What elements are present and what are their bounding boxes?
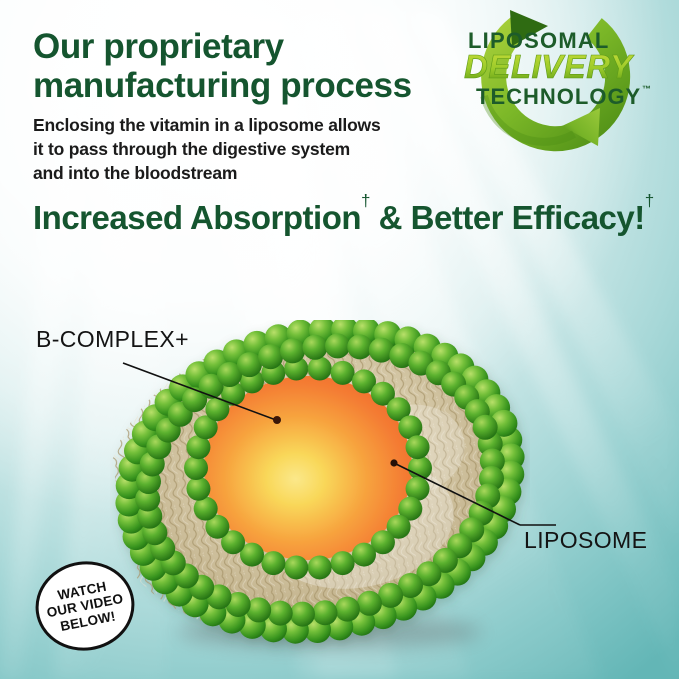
- phospholipid-head-bead: [335, 597, 360, 622]
- page-subtext: Enclosing the vitamin in a liposome allo…: [33, 113, 433, 185]
- phospholipid-head-bead: [331, 361, 355, 385]
- phospholipid-head-bead: [347, 334, 372, 359]
- headline-text-efficacy: & Better Efficacy!: [370, 199, 645, 236]
- headline-dagger-2: †: [645, 191, 654, 210]
- phospholipid-head-bead: [303, 335, 328, 360]
- phospholipid-head-bead: [261, 551, 285, 575]
- phospholipid-head-bead: [408, 456, 432, 480]
- badge-text-group: WATCH OUR VIDEO BELOW!: [24, 549, 146, 663]
- phospholipid-head-bead: [284, 555, 308, 579]
- phospholipid-head-bead: [406, 435, 430, 459]
- watch-video-badge[interactable]: WATCH OUR VIDEO BELOW!: [32, 558, 138, 654]
- phospholipid-head-bead: [280, 338, 305, 363]
- logo-trademark: ™: [642, 84, 651, 94]
- phospholipid-head-bead: [325, 333, 350, 358]
- page-title: Our proprietary manufacturing process: [33, 27, 433, 105]
- phospholipid-head-bead: [290, 602, 315, 627]
- phospholipid-head-bead: [308, 555, 332, 579]
- callout-label-b-complex: B-COMPLEX+: [36, 326, 189, 353]
- phospholipid-head-bead: [473, 415, 498, 440]
- page-title-line-1: Our proprietary: [33, 27, 433, 66]
- headline-dagger-1: †: [361, 191, 370, 210]
- callout-label-liposome: LIPOSOME: [524, 527, 647, 554]
- phospholipid-head-bead: [357, 591, 382, 616]
- liposome-diagram: [110, 320, 530, 660]
- page-subtext-line-2: it to pass through the digestive system: [33, 137, 433, 161]
- logo-line-3: TECHNOLOGY: [476, 84, 641, 109]
- page-subtext-line-1: Enclosing the vitamin in a liposome allo…: [33, 113, 433, 137]
- phospholipid-head-bead: [186, 477, 210, 501]
- liposome-body: [110, 320, 530, 660]
- liposomal-delivery-technology-logo: LIPOSOMAL DELIVERY TECHNOLOGY ™: [424, 4, 679, 164]
- phospholipid-head-bead: [268, 601, 293, 626]
- headline-banner: Increased Absorption† & Better Efficacy!…: [33, 200, 673, 236]
- phospholipid-head-bead: [312, 600, 337, 625]
- headline-text-absorption: Increased Absorption: [33, 199, 361, 236]
- logo-line-2: DELIVERY: [464, 48, 635, 85]
- phospholipid-head-bead: [331, 551, 355, 575]
- phospholipid-head-bead: [184, 456, 208, 480]
- phospholipid-head-bead: [352, 543, 376, 567]
- phospholipid-head-bead: [308, 357, 332, 381]
- promo-graphic: LIPOSOMAL DELIVERY TECHNOLOGY ™ Our prop…: [0, 0, 679, 679]
- page-subtext-line-3: and into the bloodstream: [33, 161, 433, 185]
- phospholipid-head-bead: [258, 344, 283, 369]
- page-title-line-2: manufacturing process: [33, 66, 433, 105]
